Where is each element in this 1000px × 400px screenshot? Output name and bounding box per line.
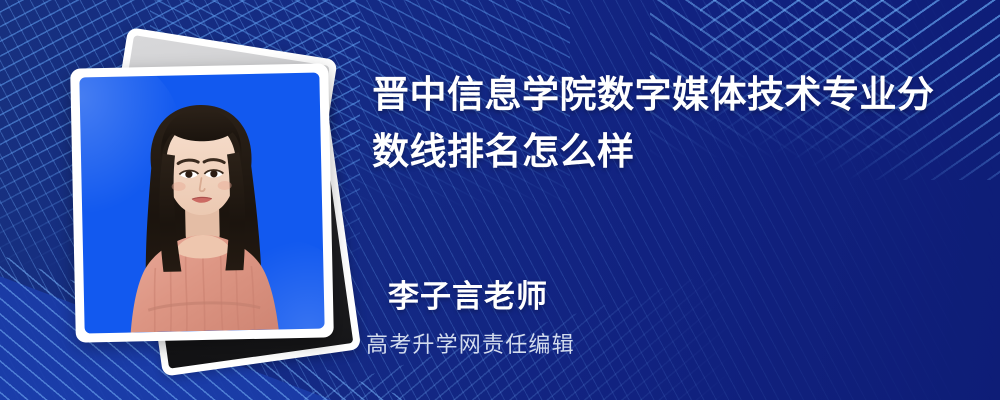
author-role: 高考升学网责任编辑 xyxy=(366,327,575,359)
page-title: 晋中信息学院数字媒体技术专业分数线排名怎么样 xyxy=(372,66,962,180)
photo-card-stack xyxy=(58,42,348,352)
headline-block: 晋中信息学院数字媒体技术专业分数线排名怎么样 xyxy=(372,66,972,180)
article-banner: 晋中信息学院数字媒体技术专业分数线排名怎么样 李子言老师 高考升学网责任编辑 xyxy=(0,0,1000,400)
photo-card-front xyxy=(70,63,334,342)
portrait-illustration xyxy=(79,73,324,334)
byline: 李子言老师 高考升学网责任编辑 xyxy=(388,271,575,359)
author-name: 李子言老师 xyxy=(388,271,575,316)
portrait-photo xyxy=(79,73,324,334)
